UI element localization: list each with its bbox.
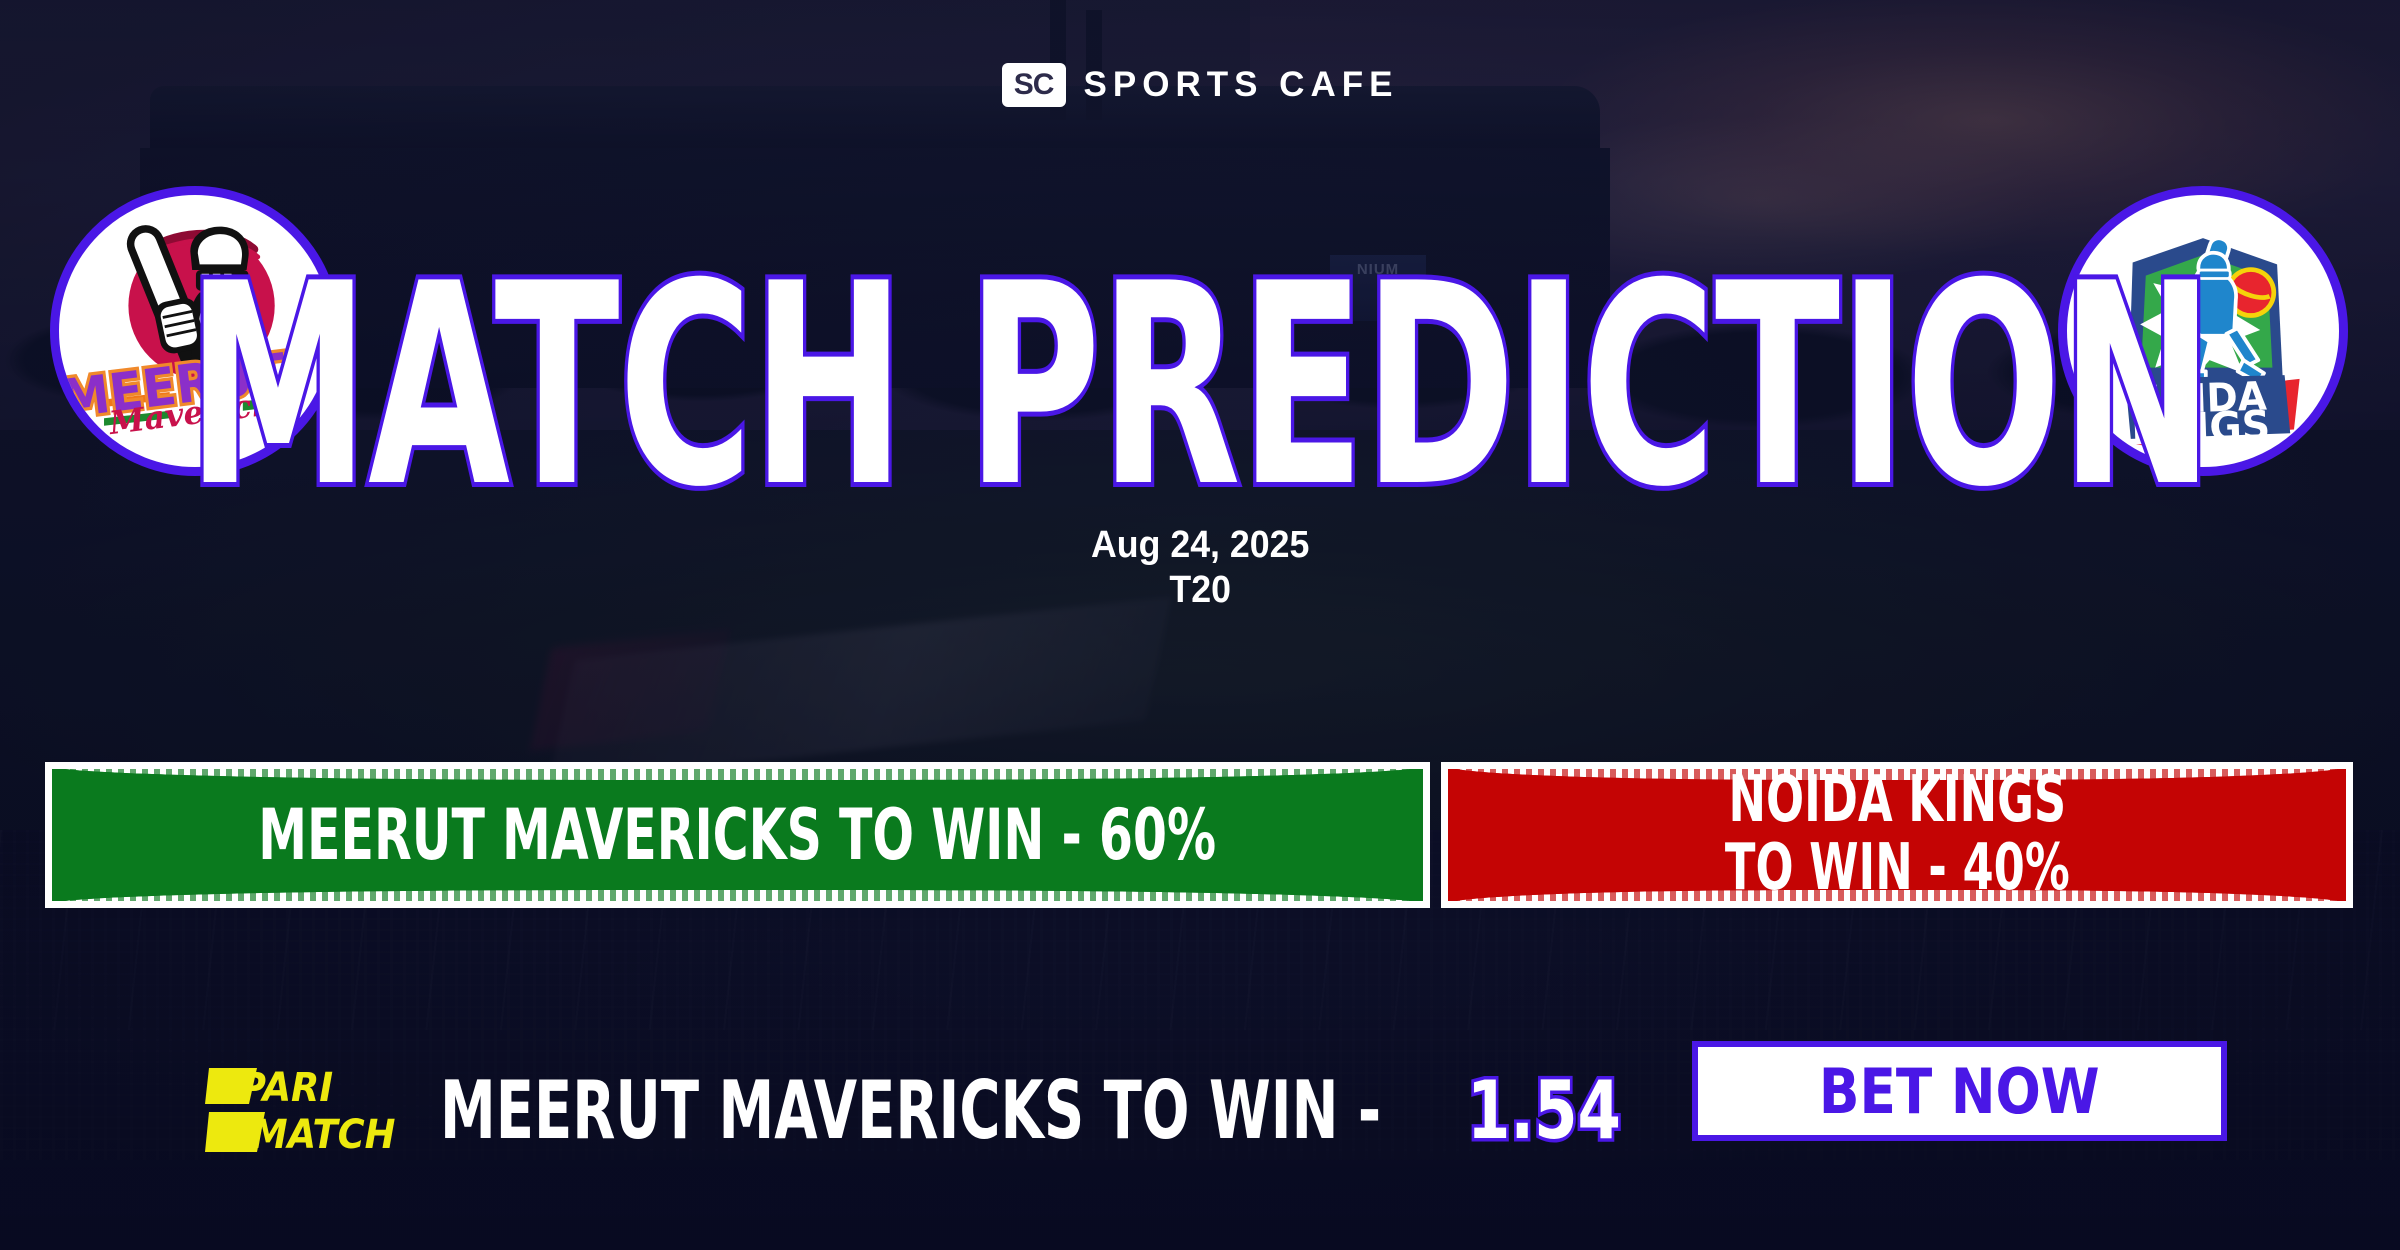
torn-edge-bottom: [52, 890, 1423, 904]
promo-odds: 1.54: [1467, 1064, 1621, 1157]
parimatch-logo-svg: PARI MATCH: [205, 1060, 410, 1160]
torn-edge-bottom: [1448, 890, 2346, 904]
brand-name: SPORTS CAFE: [1084, 65, 1399, 105]
bet-now-button[interactable]: BET NOW: [1692, 1041, 2227, 1141]
site-brand[interactable]: SC SPORTS CAFE: [0, 60, 2400, 110]
home-win-label: MEERUT MAVERICKS TO WIN - 60%: [259, 798, 1217, 872]
away-win-label: NOIDA KINGS TO WIN - 40%: [1725, 767, 2070, 903]
prediction-bars: MEERUT MAVERICKS TO WIN - 60% NOIDA KING…: [0, 762, 2400, 908]
prediction-graphic: NIUM SC SPORTS CAFE: [0, 0, 2400, 1250]
promo-tip-text: MEERUT MAVERICKS TO WIN -: [440, 1064, 1381, 1157]
match-date: Aug 24, 2025: [1091, 523, 1309, 568]
title-block: MATCH PREDICTION Aug 24, 2025 T20: [0, 278, 2400, 612]
sports-cafe-logo-icon: SC: [1002, 63, 1066, 107]
away-win-bar: NOIDA KINGS TO WIN - 40%: [1441, 762, 2353, 908]
page-title: MATCH PREDICTION: [187, 278, 2213, 495]
parimatch-line1: PARI: [239, 1065, 333, 1112]
promo-tip: MEERUT MAVERICKS TO WIN - 1.54: [440, 1062, 1670, 1158]
match-format: T20: [1091, 568, 1309, 613]
home-win-bar: MEERUT MAVERICKS TO WIN - 60%: [45, 762, 1430, 908]
brand-mark-text: SC: [1014, 68, 1054, 102]
torn-edge-top: [52, 766, 1423, 780]
parimatch-line2: MATCH: [251, 1112, 395, 1159]
parimatch-logo-icon[interactable]: PARI MATCH: [205, 1060, 410, 1160]
bet-now-label: BET NOW: [1819, 1055, 2100, 1128]
match-meta: Aug 24, 2025 T20: [1091, 523, 1309, 613]
